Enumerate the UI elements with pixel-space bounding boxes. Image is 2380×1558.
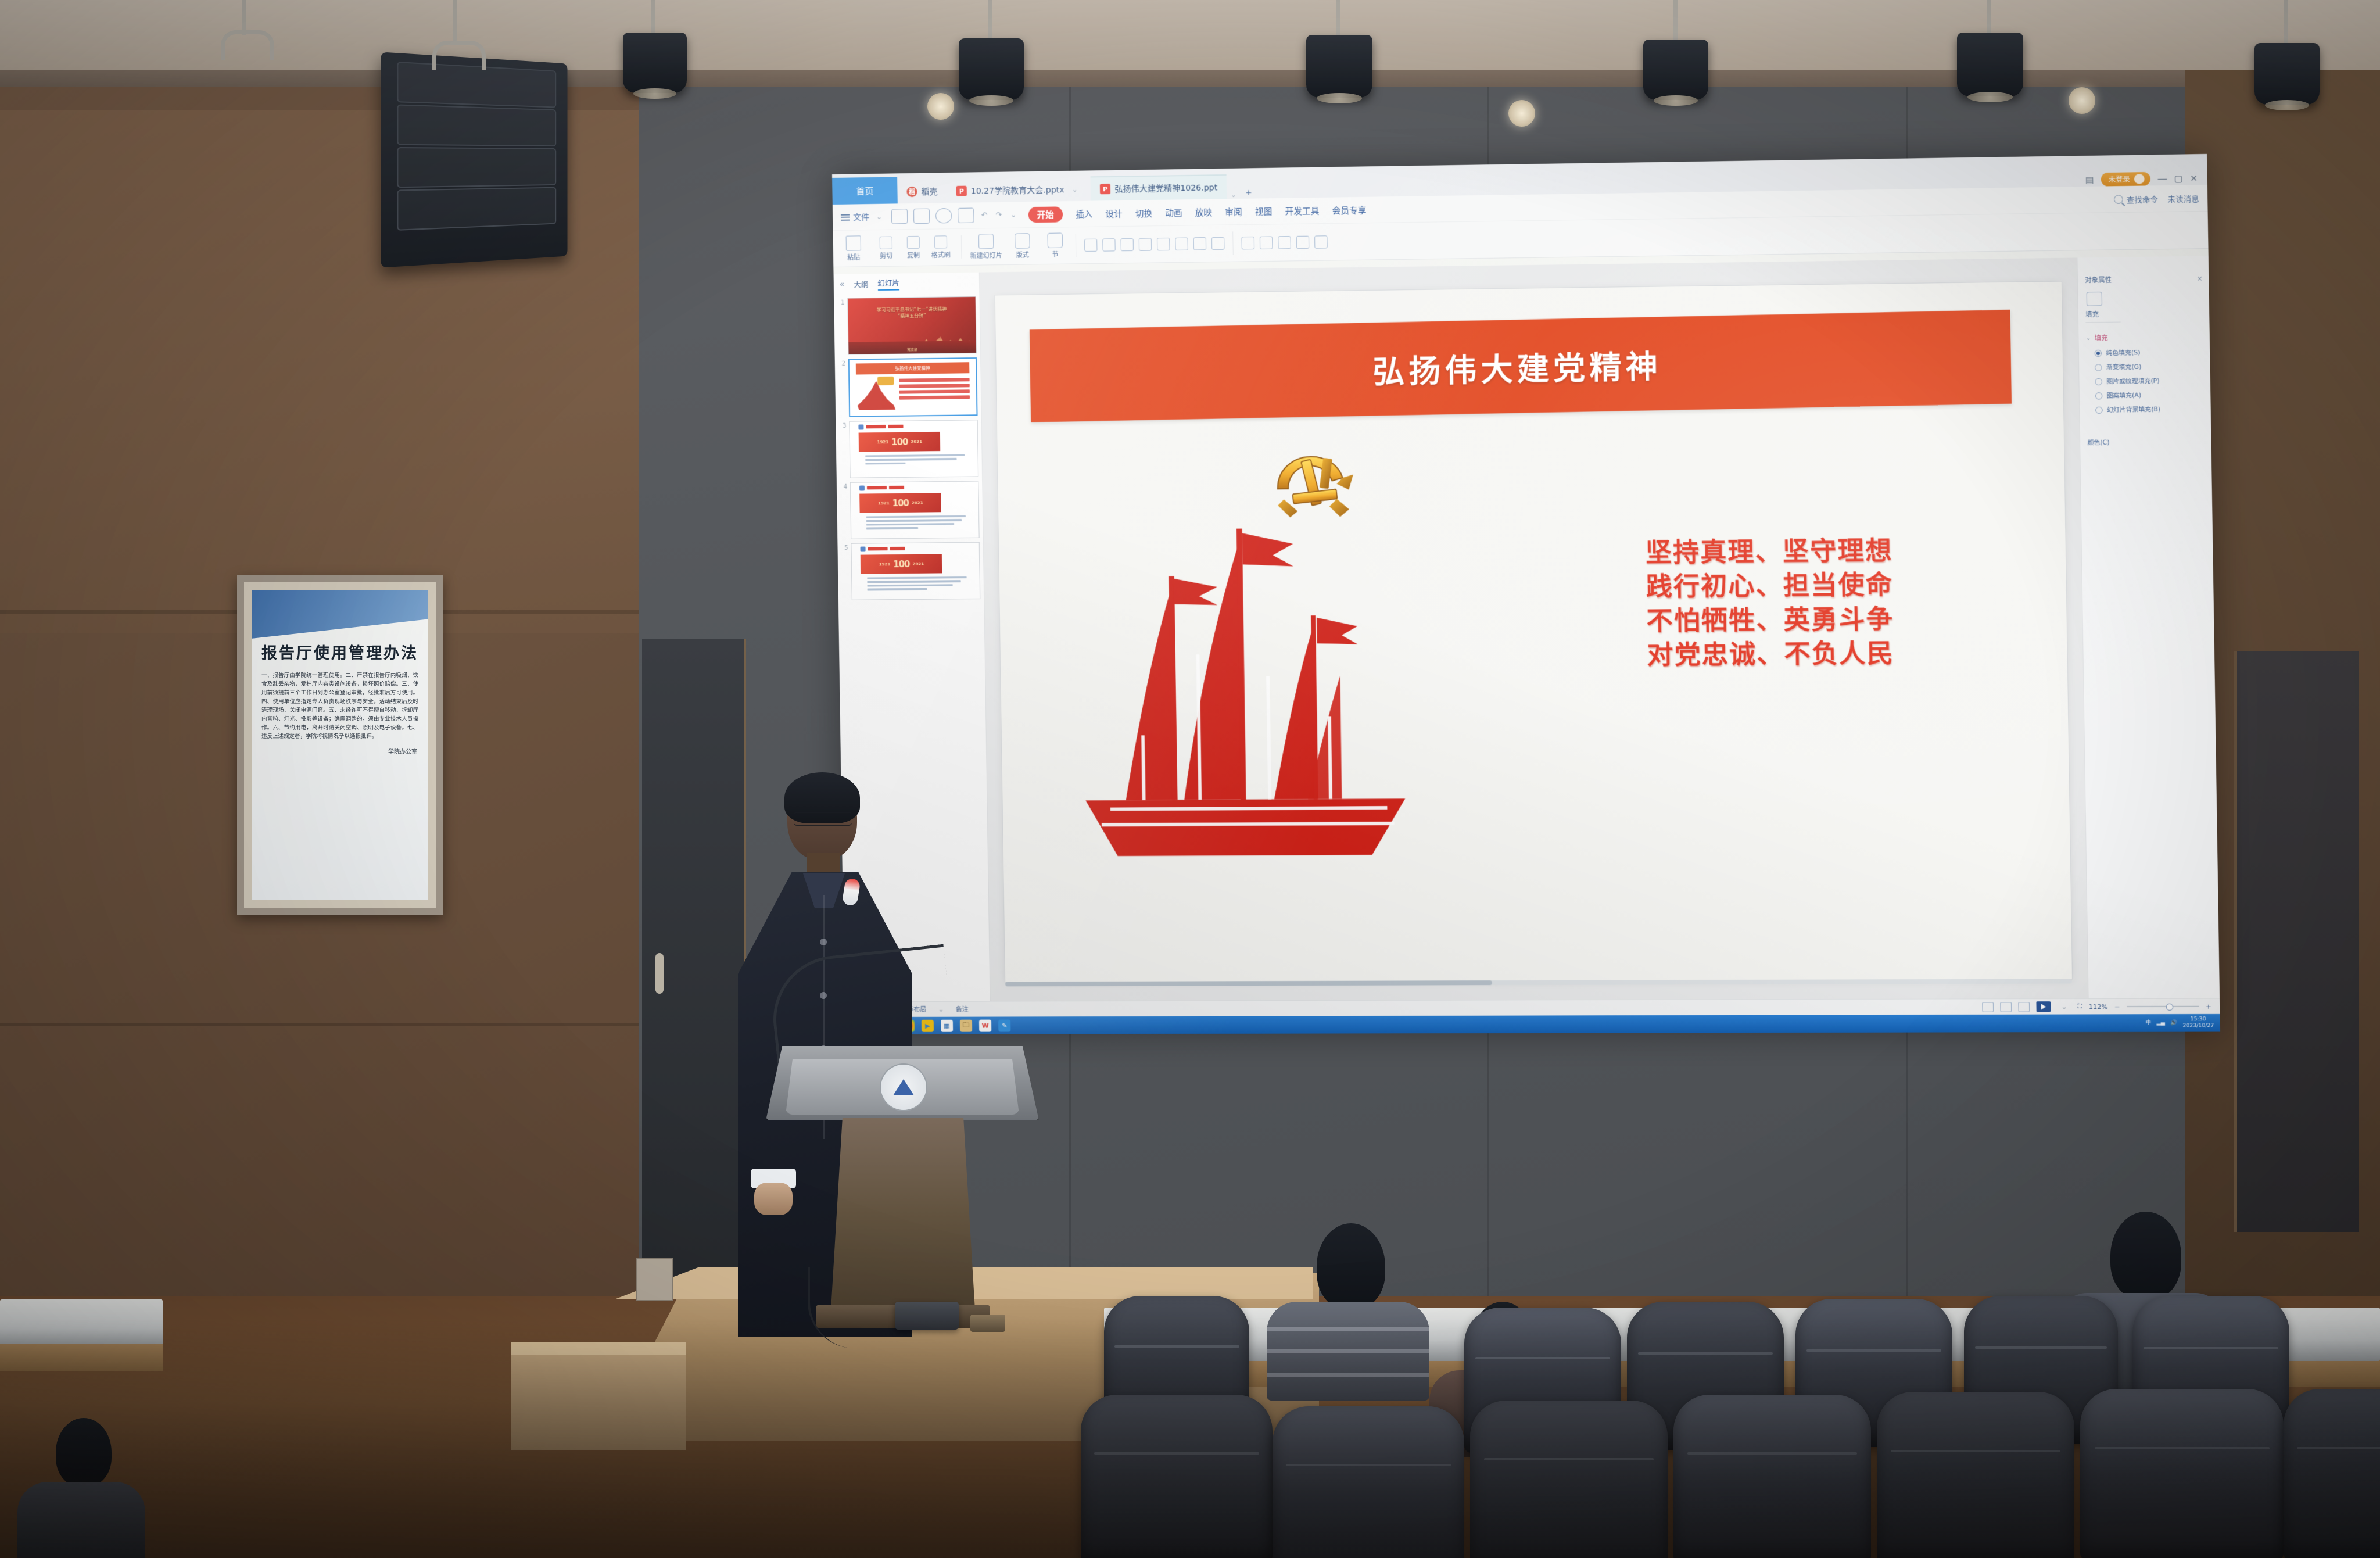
party-emblem-icon [877, 377, 894, 386]
thumb5-banner-center: 100 [893, 558, 910, 569]
scissors-icon [880, 236, 892, 249]
chevron-down-icon[interactable]: ⌄ [2058, 1002, 2071, 1011]
thumb3-banner-left: 1921 [877, 439, 889, 444]
university-emblem [880, 1063, 927, 1111]
chevron-down-icon[interactable]: ⌄ [1069, 185, 1081, 194]
quick-access-more-icon[interactable]: ⌄ [1009, 210, 1017, 219]
slide-text-block[interactable]: 坚持真理、坚守理想 践行初心、担当使命 不怕牺牲、英勇斗争 对党忠诚、不负人民 [1512, 533, 2030, 674]
docer-tab[interactable]: 稻 稻壳 [897, 180, 947, 203]
projection-screen: 首页 稻 稻壳 P 10.27学院教育大会.pptx ⌄ P 弘扬伟大建党精神1… [832, 154, 2220, 1034]
cut-label: 剪切 [880, 250, 892, 260]
document-tab-2-label: 弘扬伟大建党精神1026.ppt [1114, 181, 1217, 195]
format-painter-label: 格式刷 [931, 250, 951, 259]
bullet-icon [861, 546, 866, 551]
thumb5-banner-right: 2021 [913, 561, 924, 566]
account-label: 未登录 [2108, 174, 2130, 184]
home-tab[interactable]: 首页 [832, 177, 898, 205]
collapse-panel-icon[interactable]: « [840, 280, 845, 289]
select-icon[interactable] [1314, 235, 1328, 248]
thumb4-banner-center: 100 [892, 497, 909, 508]
wps-window: 首页 稻 稻壳 P 10.27学院教育大会.pptx ⌄ P 弘扬伟大建党精神1… [832, 154, 2220, 1034]
fill-option-gradient-label: 渐变填充(G) [2106, 362, 2142, 371]
auditorium-photo: 报告厅使用管理办法 一、报告厅由学院统一管理使用。二、严禁在报告厅内吸烟、饮食及… [0, 0, 2380, 1558]
layout-button[interactable]: 版式 [1010, 233, 1035, 260]
share-icon[interactable] [958, 208, 974, 223]
stage-spotlight [1643, 40, 1708, 100]
unread-messages[interactable]: 未读消息 [2167, 192, 2199, 204]
panel-tabs: « 大纲 幻灯片 [840, 277, 899, 291]
radio-icon [2095, 406, 2103, 413]
zoom-slider[interactable] [2127, 1006, 2199, 1007]
stage-spotlight [2254, 43, 2320, 105]
volume-icon[interactable]: 🔊 [2170, 1020, 2177, 1026]
home-tab-label: 首页 [856, 184, 873, 196]
fill-option-pattern-label: 图案填充(A) [2106, 391, 2141, 400]
print-icon[interactable] [913, 209, 930, 224]
section-label: 节 [1052, 249, 1058, 259]
notice-signature: 学院办公室 [252, 747, 417, 755]
thumbnail-item[interactable]: 1 学习习近平总书记“七一”讲话精神 “精神五分钟” 党支部 [834, 292, 980, 355]
ceiling-downlight [927, 93, 954, 120]
minimize-icon[interactable]: — [2158, 174, 2167, 184]
account-badge[interactable]: 未登录 [2101, 172, 2151, 187]
new-slide-label: 新建幻灯片 [970, 250, 1002, 260]
notice-board-icon[interactable]: ▤ [2085, 174, 2094, 185]
layout-label: 版式 [1016, 250, 1029, 259]
docer-icon: 稻 [906, 187, 917, 197]
copy-icon [907, 235, 920, 248]
slide-line-1: 坚持真理、坚守理想 [1512, 533, 2028, 572]
chevron-down-icon[interactable]: ⌄ [2086, 335, 2091, 341]
left-wall-panel [0, 110, 674, 633]
zoom-level[interactable]: 112% [2089, 1002, 2108, 1010]
thumbnail-item[interactable]: 3 1921 100 2021 [836, 416, 982, 478]
new-slide-button[interactable]: 新建幻灯片 [970, 233, 1002, 260]
clock-time: 15:30 [2191, 1016, 2206, 1022]
wall-band [0, 1023, 674, 1026]
thumbnail-item[interactable]: 4 1921 100 2021 [837, 477, 983, 539]
fill-option-solid[interactable]: 纯色填充(S) [2095, 348, 2204, 358]
party-emblem-icon [1266, 446, 1359, 529]
document-tab-1[interactable]: P 10.27学院教育大会.pptx ⌄ [947, 177, 1091, 203]
font-italic-icon[interactable] [1102, 238, 1115, 251]
thumbnail-number: 5 [840, 543, 848, 600]
presenter-glasses [794, 812, 852, 826]
radio-icon [2095, 392, 2103, 399]
fill-option-gradient[interactable]: 渐变填充(G) [2095, 361, 2204, 372]
ribbon-tab-view[interactable]: 视图 [1255, 205, 1273, 218]
fill-option-picture[interactable]: 图片或纹理填充(P) [2095, 376, 2204, 386]
stage-spotlight [1957, 33, 2023, 96]
ceiling-downlight [2069, 87, 2095, 114]
thumbnail-number: 2 [837, 359, 846, 417]
thumbnail-slide-5[interactable]: 1921 100 2021 [851, 542, 980, 600]
ribbon-tab-animation[interactable]: 动画 [1165, 206, 1182, 219]
slide-title-banner[interactable]: 弘扬伟大建党精神 [1029, 310, 2011, 422]
red-boat-icon [1056, 518, 1432, 879]
zoom-out-button[interactable]: − [2114, 1002, 2120, 1010]
format-object-panel[interactable]: 对象属性 × 填充 ⌄ 填充 纯色填充(S) [2077, 256, 2220, 999]
fill-option-picture-label: 图片或纹理填充(P) [2106, 377, 2160, 386]
panel-tab-outline[interactable]: 大纲 [854, 278, 868, 289]
fill-option-solid-label: 纯色填充(S) [2106, 348, 2140, 357]
paste-icon [846, 235, 861, 250]
slide-line-3: 不怕牺牲、英勇斗争 [1513, 601, 2029, 640]
redo-icon[interactable]: ↷ [994, 210, 1003, 220]
thumb3-banner-right: 2021 [911, 439, 922, 444]
undo-icon[interactable]: ↶ [980, 210, 988, 220]
ribbon-tab-insert[interactable]: 插入 [1076, 207, 1093, 220]
avatar [2134, 174, 2145, 184]
ceiling-downlight [1508, 100, 1535, 127]
brush-icon [934, 235, 947, 248]
notice-wave-graphic [252, 590, 428, 643]
close-icon[interactable]: ✕ [2190, 173, 2198, 184]
slide-editor[interactable]: 弘扬伟大建党精神 [980, 257, 2088, 1001]
thumb1-subtitle: “精神五分钟” [898, 313, 926, 319]
format-panel-group: 填充 [2095, 333, 2108, 343]
powerpoint-file-icon: P [1100, 184, 1110, 194]
view-reading-button[interactable] [2019, 1002, 2030, 1012]
ribbon-tab-transition[interactable]: 切换 [1135, 207, 1153, 220]
radio-icon [2095, 364, 2102, 371]
slide-line-2: 践行初心、担当使命 [1512, 567, 2028, 606]
thumbnail-number: 1 [836, 298, 845, 355]
thumbnail-item[interactable]: 2 弘扬伟大建党精神 [835, 353, 981, 417]
radio-icon [2095, 378, 2102, 385]
tab-overflow-icon[interactable]: ⌄ [1227, 191, 1241, 199]
stage-spotlight [623, 33, 687, 93]
note-icon[interactable]: ✎ [998, 1019, 1010, 1031]
thumbnail-number: 4 [839, 482, 848, 539]
emblem-mountain-icon [893, 1079, 914, 1095]
format-panel-section: 填充 [2085, 309, 2121, 323]
powerpoint-file-icon: P [956, 186, 967, 196]
notes-button[interactable]: 备注 [956, 1005, 969, 1014]
docer-tab-label: 稻壳 [921, 185, 937, 197]
unread-messages-label: 未读消息 [2167, 192, 2199, 204]
shape-fill-icon[interactable] [1241, 237, 1254, 249]
output-pdf-icon[interactable] [935, 208, 952, 223]
bullet-list-icon[interactable] [1193, 237, 1207, 250]
file-menu-button[interactable]: 文件 ⌄ [841, 211, 886, 223]
slide-line-4: 对党忠诚、不负人民 [1514, 636, 2030, 674]
ribbon-tab-start[interactable]: 开始 [1028, 206, 1063, 223]
new-slide-icon [978, 234, 993, 249]
thumb4-banner-left: 1921 [878, 501, 890, 506]
bullet-icon [859, 485, 865, 490]
windows-taskbar: 搜索一下 S ▶ ▦ 🗀 W ✎ 中 ▂▄ 🔊 15:30 2023/10/27 [845, 1014, 2220, 1034]
command-search[interactable]: 查找命令 [2114, 193, 2158, 205]
wall-socket [636, 1258, 673, 1301]
save-icon[interactable] [891, 209, 908, 224]
taskbar-clock[interactable]: 15:30 2023/10/27 [2182, 1016, 2214, 1030]
layout-icon [1015, 233, 1030, 248]
network-icon[interactable]: ▂▄ [2156, 1020, 2165, 1026]
ribbon-tab-design[interactable]: 设计 [1105, 207, 1123, 220]
start-slideshow-button[interactable] [2037, 1001, 2051, 1012]
paste-button[interactable]: 粘贴 [841, 235, 866, 262]
font-color-icon[interactable] [1139, 238, 1152, 250]
zoom-slider-knob[interactable] [2166, 1004, 2173, 1011]
stage-spotlight [1306, 35, 1372, 98]
slide-canvas[interactable]: 弘扬伟大建党精神 [995, 282, 2072, 982]
thumbnail-number: 3 [838, 421, 847, 478]
format-painter-button[interactable]: 格式刷 [929, 235, 954, 260]
maximize-icon[interactable]: ▢ [2174, 173, 2183, 184]
fill-color-label[interactable]: 颜色(C) [2087, 437, 2205, 447]
thumb2-title: 弘扬伟大建党精神 [856, 362, 970, 374]
search-icon [2114, 195, 2123, 204]
ribbon-tab-review[interactable]: 审阅 [1225, 205, 1242, 218]
document-tab-1-label: 10.27学院教育大会.pptx [971, 184, 1064, 196]
fill-option-background[interactable]: 幻灯片背景填充(B) [2095, 404, 2205, 414]
copy-button[interactable]: 复制 [901, 235, 926, 260]
file-menu-label: 文件 [853, 211, 869, 223]
notice-body: 一、报告厅由学院统一管理使用。二、严禁在报告厅内吸烟、饮食及乱丢杂物，爱护厅内各… [261, 671, 418, 741]
new-tab-button[interactable]: + [1240, 187, 1258, 199]
folder-icon[interactable]: 🗀 [960, 1019, 972, 1031]
align-center-icon[interactable] [1175, 238, 1188, 250]
wall-notice-frame: 报告厅使用管理办法 一、报告厅由学院统一管理使用。二、严禁在报告厅内吸烟、饮食及… [237, 575, 443, 915]
workspace: « 大纲 幻灯片 1 学习习近平总书记“七一”讲话精神 “精神五分钟” [834, 256, 2220, 1002]
thumb3-banner-center: 100 [891, 436, 908, 447]
section-button[interactable]: 节 [1042, 232, 1067, 259]
format-panel-title: 对象属性 [2085, 275, 2112, 285]
view-normal-button[interactable] [1983, 1002, 1994, 1012]
thumbnail-slide-4[interactable]: 1921 100 2021 [850, 481, 980, 539]
section-icon [1047, 232, 1063, 248]
view-sorter-button[interactable] [2001, 1002, 2012, 1012]
bullet-icon [859, 424, 864, 429]
slide-title: 弘扬伟大建党精神 [1029, 310, 2011, 422]
thumbnail-slide-1[interactable]: 学习习近平总书记“七一”讲话精神 “精神五分钟” 党支部 [847, 296, 977, 355]
thumbnail-item[interactable]: 5 1921 100 2021 [837, 538, 984, 600]
ime-icon[interactable]: 中 [2146, 1020, 2152, 1026]
thumbnail-slide-2[interactable]: 弘扬伟大建党精神 [848, 357, 978, 417]
command-search-label: 查找命令 [2127, 193, 2158, 205]
panel-tab-slides[interactable]: 幻灯片 [877, 277, 899, 291]
ribbon-tab-member[interactable]: 会员专享 [1332, 203, 1366, 216]
stage-spotlight [959, 38, 1024, 100]
thumbnail-slide-3[interactable]: 1921 100 2021 [849, 420, 978, 478]
ribbon-tab-developer[interactable]: 开发工具 [1285, 205, 1319, 217]
find-replace-icon[interactable] [1296, 236, 1310, 249]
cut-button[interactable]: 剪切 [874, 236, 899, 260]
thumb4-banner-right: 2021 [912, 500, 923, 505]
document-tab-2[interactable]: P 弘扬伟大建党精神1026.ppt [1091, 174, 1227, 201]
fill-option-background-label: 幻灯片背景填充(B) [2107, 405, 2161, 414]
wps-icon[interactable]: W [979, 1019, 991, 1031]
menu-icon [841, 214, 850, 220]
ribbon-tablist: 开始 插入 设计 切换 动画 放映 审阅 视图 开发工具 会员专享 [1028, 202, 1366, 222]
fill-option-pattern[interactable]: 图案填充(A) [2095, 390, 2205, 400]
paste-label: 粘贴 [847, 252, 860, 262]
thumb5-banner-left: 1921 [879, 562, 891, 567]
line-spacing-icon[interactable] [1211, 237, 1225, 250]
zoom-in-button[interactable]: + [2206, 1002, 2211, 1010]
clock-date: 2023/10/27 [2182, 1023, 2214, 1029]
door-handle [655, 953, 664, 994]
chevron-down-icon: ⌄ [873, 213, 886, 221]
red-boat-icon [857, 381, 895, 413]
font-underline-icon[interactable] [1120, 238, 1134, 251]
radio-icon [2095, 349, 2102, 356]
fill-bucket-icon[interactable] [2087, 292, 2102, 306]
align-left-icon[interactable] [1157, 238, 1170, 250]
ribbon-tab-slideshow[interactable]: 放映 [1195, 206, 1213, 219]
close-icon[interactable]: × [2196, 274, 2203, 282]
arrange-icon[interactable] [1278, 236, 1291, 249]
font-bold-icon[interactable] [1084, 239, 1097, 252]
fit-to-window-icon[interactable]: ⛶ [2077, 1002, 2082, 1011]
thumb2-lines [899, 378, 970, 402]
copy-label: 复制 [907, 250, 920, 259]
thumb1-title: 学习习近平总书记“七一”讲话精神 [877, 307, 947, 313]
line-array-speaker [381, 52, 567, 267]
shape-outline-icon[interactable] [1260, 237, 1273, 249]
notice-title: 报告厅使用管理办法 [252, 640, 428, 663]
right-door [2234, 651, 2359, 1232]
